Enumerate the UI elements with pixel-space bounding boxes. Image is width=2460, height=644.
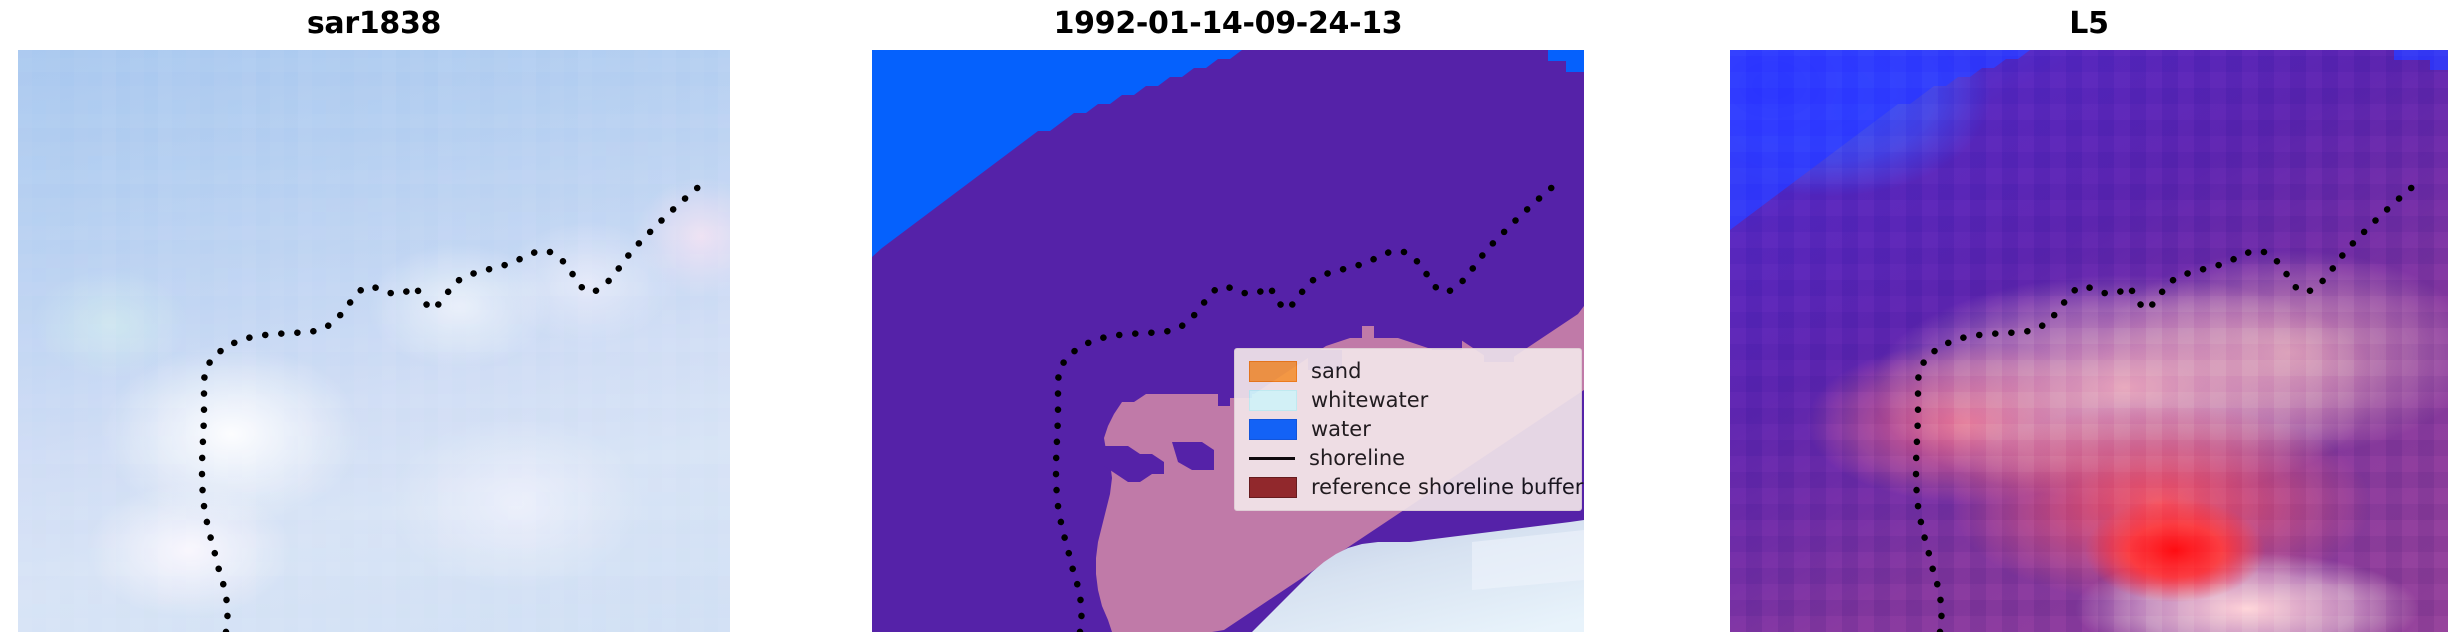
panel-sar: sar1838 <box>18 0 730 644</box>
reference-shoreline-buffer-swatch <box>1249 477 1297 498</box>
panel-l5: L5 <box>1730 0 2448 644</box>
rgb-composite-image <box>18 50 730 632</box>
legend-label-whitewater: whitewater <box>1311 390 1428 411</box>
shoreline-line-sample <box>1249 449 1295 468</box>
legend-item-shoreline: shoreline <box>1245 444 1571 473</box>
panel-title-classified: 1992-01-14-09-24-13 <box>872 4 1584 44</box>
axes-sar <box>18 50 730 632</box>
legend-label-sand: sand <box>1311 361 1361 382</box>
legend-item-whitewater: whitewater <box>1245 386 1571 415</box>
axes-l5 <box>1730 50 2448 632</box>
legend-item-reference-shoreline-buffer: reference shoreline buffer <box>1245 473 1571 502</box>
classification-raster <box>872 50 1584 632</box>
legend-label-reference-shoreline-buffer: reference shoreline buffer <box>1311 477 1583 498</box>
figure-canvas: sar1838 1992-01-14-09-24-13 <box>0 0 2460 644</box>
panel-title-sar: sar1838 <box>18 4 730 44</box>
legend-label-shoreline: shoreline <box>1309 448 1405 469</box>
l5-texture-overlay <box>1730 50 2448 632</box>
axes-classified: sand whitewater water shoreline referenc <box>872 50 1584 632</box>
water-swatch <box>1249 419 1297 440</box>
panel-classified: 1992-01-14-09-24-13 <box>872 0 1584 644</box>
l5-false-colour-image <box>1730 50 2448 632</box>
class-region-whitewater <box>872 50 1584 632</box>
legend-box: sand whitewater water shoreline referenc <box>1234 348 1582 511</box>
whitewater-swatch <box>1249 390 1297 411</box>
legend-item-sand: sand <box>1245 357 1571 386</box>
panel-title-l5: L5 <box>1730 4 2448 44</box>
sand-swatch <box>1249 361 1297 382</box>
legend-label-water: water <box>1311 419 1371 440</box>
legend-item-water: water <box>1245 415 1571 444</box>
rgb-texture-overlay-fine <box>18 50 730 632</box>
